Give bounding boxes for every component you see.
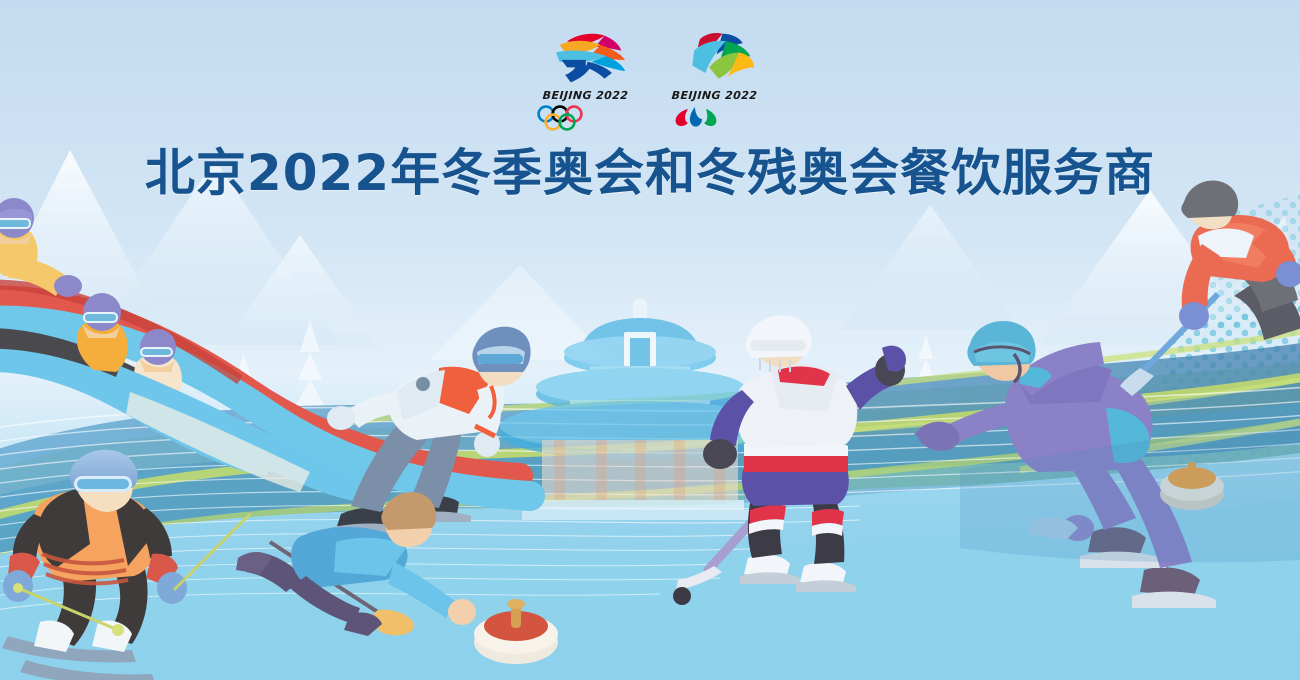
page-title: 北京2022年冬季奥会和冬残奥会餐饮服务商 <box>0 142 1300 204</box>
olympic-wordmark: BEIJING 2022 <box>533 89 639 102</box>
olympic-rings <box>533 105 603 131</box>
alpine-skier <box>2 450 250 680</box>
beijing-2022-paralympic-emblem <box>668 30 762 88</box>
olympic-emblem-block: BEIJING 2022 <box>533 30 638 131</box>
curler-delivering-stone <box>236 492 558 664</box>
paralympic-emblem-block: BEIJING 2022 <box>662 30 767 131</box>
ice-hockey-player <box>673 315 906 605</box>
paralympic-agitos <box>662 105 732 131</box>
paralympic-wordmark: BEIJING 2022 <box>662 89 768 102</box>
beijing-2022-olympic-emblem <box>539 30 633 88</box>
emblem-row: BEIJING 2022 BEIJING 2022 <box>0 30 1300 131</box>
olympic-catering-banner: BEIJING 2022 BEIJING 2022 <box>0 0 1300 680</box>
